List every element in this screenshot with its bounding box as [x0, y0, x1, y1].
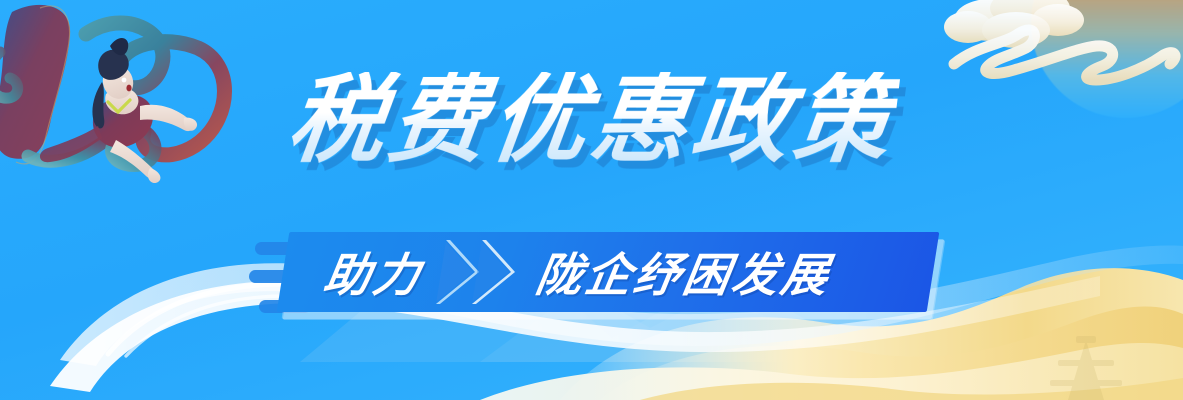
banner-subtitle-ribbon: 助力 陇企纾困发展 — [253, 228, 953, 328]
subtitle-text-left: 助力 — [319, 232, 430, 312]
subtitle-text-right: 陇企纾困发展 — [531, 232, 838, 312]
auspicious-cloud-icon — [918, 0, 1183, 129]
promotional-banner: 税费优惠政策 助力 陇企纾困发展 — [0, 0, 1183, 400]
banner-title: 税费优惠政策 — [283, 72, 901, 168]
